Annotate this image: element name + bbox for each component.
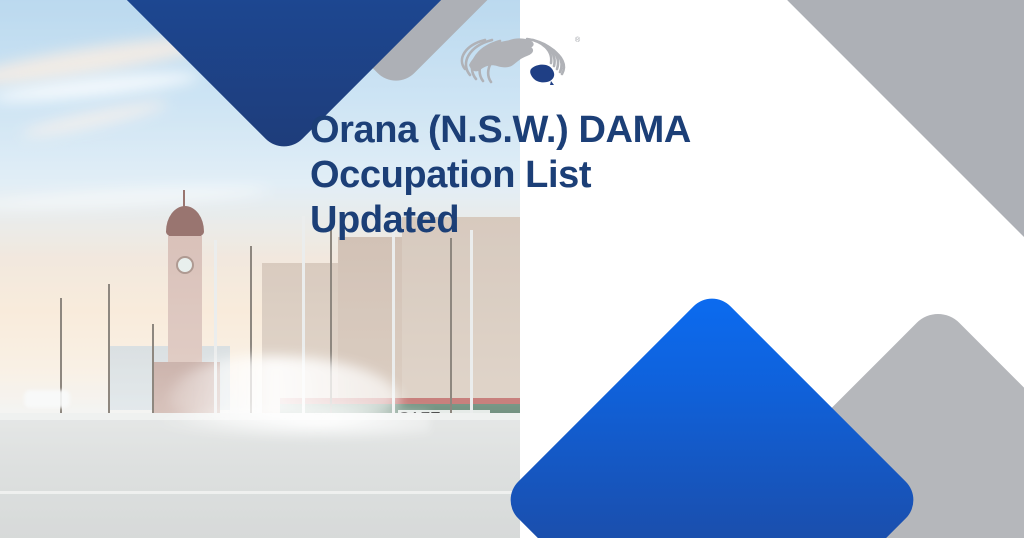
promo-banner: CAFE bbox=[0, 0, 1024, 538]
globe-icon: ® bbox=[462, 36, 581, 85]
page-title: Orana (N.S.W.) DAMA Occupation List Upda… bbox=[310, 108, 870, 242]
cloud-wisp bbox=[0, 182, 270, 214]
clock-tower-roof bbox=[166, 206, 204, 238]
vehicle-headlight-glow bbox=[150, 402, 430, 442]
globe-australia-logo: ® bbox=[447, 29, 587, 93]
bare-tree bbox=[108, 284, 110, 416]
australia-shape bbox=[530, 65, 554, 83]
registered-mark-icon: ® bbox=[575, 36, 581, 44]
parked-car bbox=[24, 390, 70, 408]
street-building bbox=[402, 217, 520, 413]
street-pole bbox=[470, 230, 473, 416]
clock-face bbox=[176, 256, 194, 274]
road-line bbox=[0, 491, 520, 494]
cloud-wisp bbox=[20, 97, 170, 142]
bare-tree bbox=[450, 238, 452, 416]
tasmania-shape bbox=[550, 81, 554, 85]
